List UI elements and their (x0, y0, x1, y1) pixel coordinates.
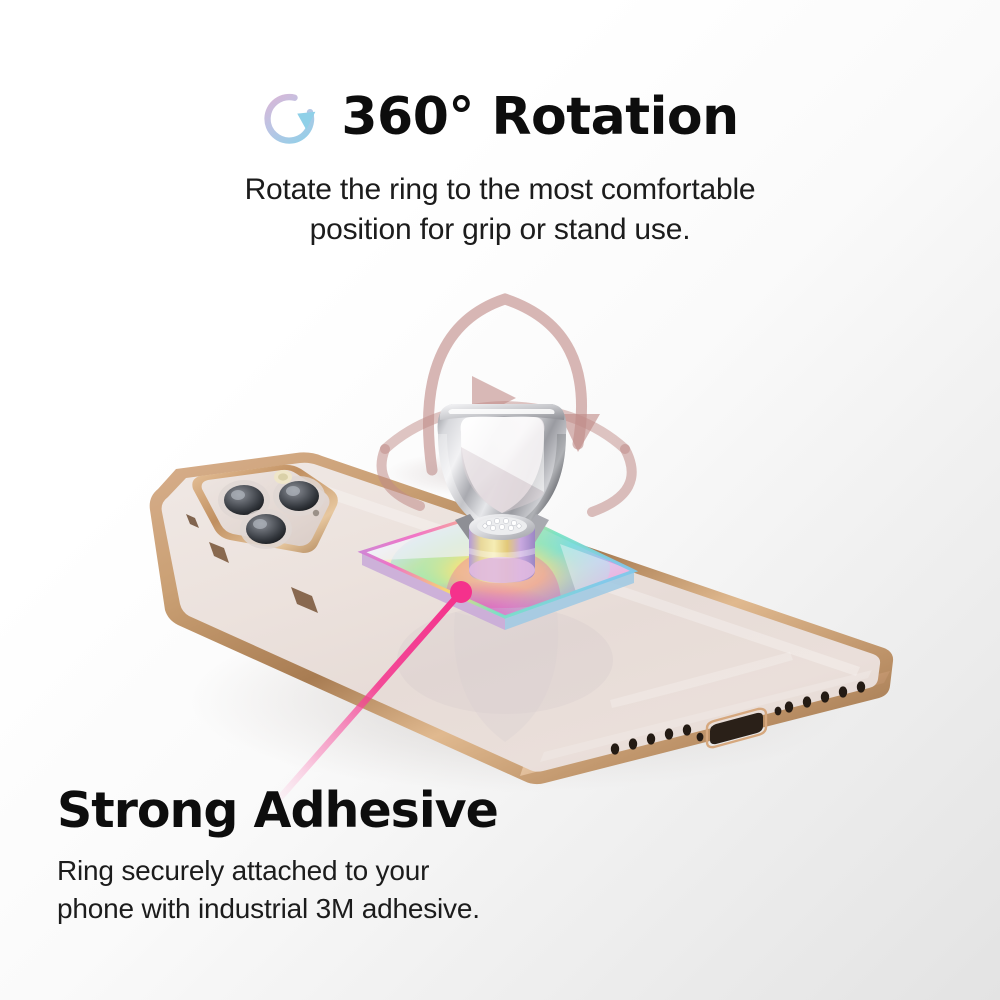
pivot-post-bottom (469, 557, 535, 583)
pivot-post (469, 514, 535, 583)
feature-header: 360° Rotation Rotate the ring to the mos… (0, 86, 1000, 249)
camera-microphone (313, 510, 319, 516)
bottom-microphone-2 (775, 707, 782, 716)
adhesive-body: Ring securely attached to your phone wit… (57, 852, 677, 926)
adhesive-title: Strong Adhesive (57, 785, 677, 836)
adhesive-body-line1: Ring securely attached to your (57, 855, 429, 886)
adhesive-body-line2: phone with industrial 3M adhesive. (57, 890, 677, 927)
bottom-microphone (697, 733, 704, 742)
camera-lens-bottom (240, 509, 292, 549)
header-subtitle-line2: position for grip or stand use. (0, 210, 1000, 250)
camera-flash-core (278, 473, 288, 480)
page-title: 360° Rotation (341, 91, 738, 143)
header-subtitle: Rotate the ring to the most comfortable … (0, 170, 1000, 249)
ring-top-specular (448, 409, 554, 414)
rotation-arc-horizontal-front-right (592, 449, 632, 512)
product-feature-image: 360° Rotation Rotate the ring to the mos… (0, 0, 1000, 1000)
callout-dot (450, 581, 472, 603)
rotation-arrow-icon (261, 90, 319, 148)
adhesive-feature-block: Strong Adhesive Ring securely attached t… (57, 785, 677, 927)
header-subtitle-line1: Rotate the ring to the most comfortable (245, 173, 756, 206)
